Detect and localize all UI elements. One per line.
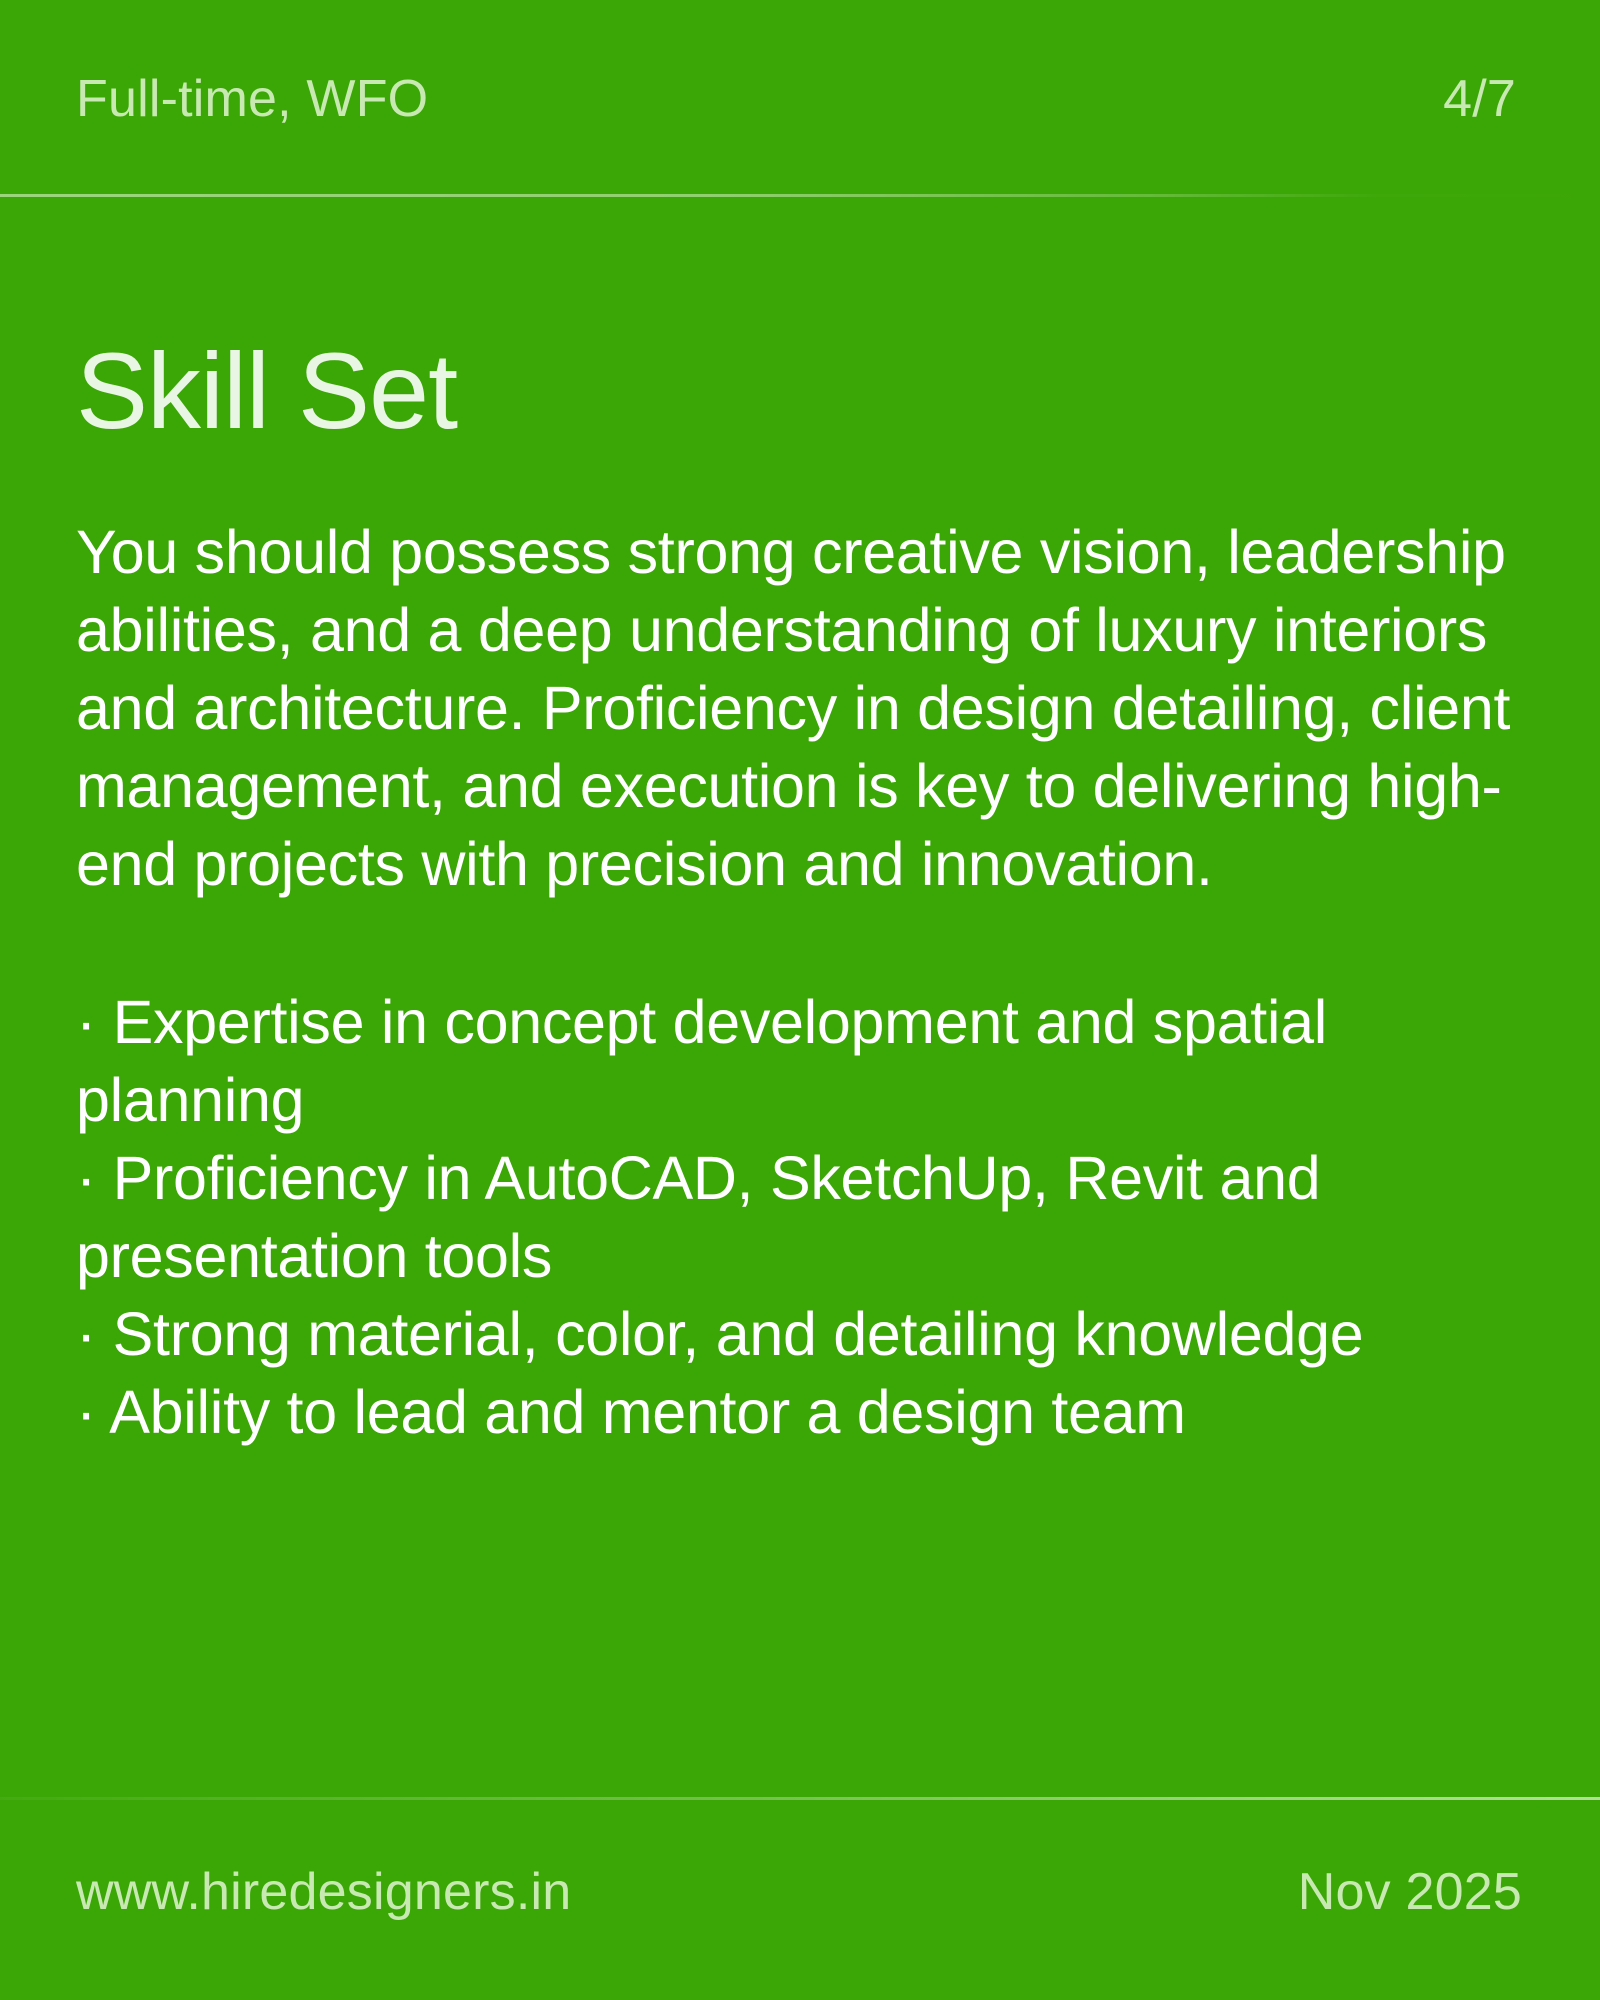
slide-footer: www.hiredesigners.in Nov 2025 — [0, 1797, 1600, 2000]
list-item: · Strong material, color, and detailing … — [76, 1295, 1522, 1373]
list-item: · Expertise in concept development and s… — [76, 983, 1522, 1139]
page-title: Skill Set — [76, 197, 1522, 445]
job-post-slide: Full-time, WFO 4/7 Skill Set You should … — [0, 0, 1600, 2000]
website-link[interactable]: www.hiredesigners.in — [76, 1866, 571, 1918]
list-item: · Proficiency in AutoCAD, SketchUp, Revi… — [76, 1139, 1522, 1295]
list-item: · Ability to lead and mentor a design te… — [76, 1373, 1522, 1451]
employment-type-label: Full-time, WFO — [76, 73, 428, 125]
skill-bullet-list: · Expertise in concept development and s… — [76, 903, 1522, 1451]
publication-date: Nov 2025 — [1298, 1866, 1522, 1918]
slide-content: Skill Set You should possess strong crea… — [0, 197, 1600, 1797]
footer-divider — [0, 1797, 1600, 1800]
slide-counter: 4/7 — [1443, 73, 1522, 125]
slide-header: Full-time, WFO 4/7 — [0, 0, 1600, 197]
skill-set-description: You should possess strong creative visio… — [76, 445, 1522, 903]
header-divider — [0, 194, 1600, 197]
